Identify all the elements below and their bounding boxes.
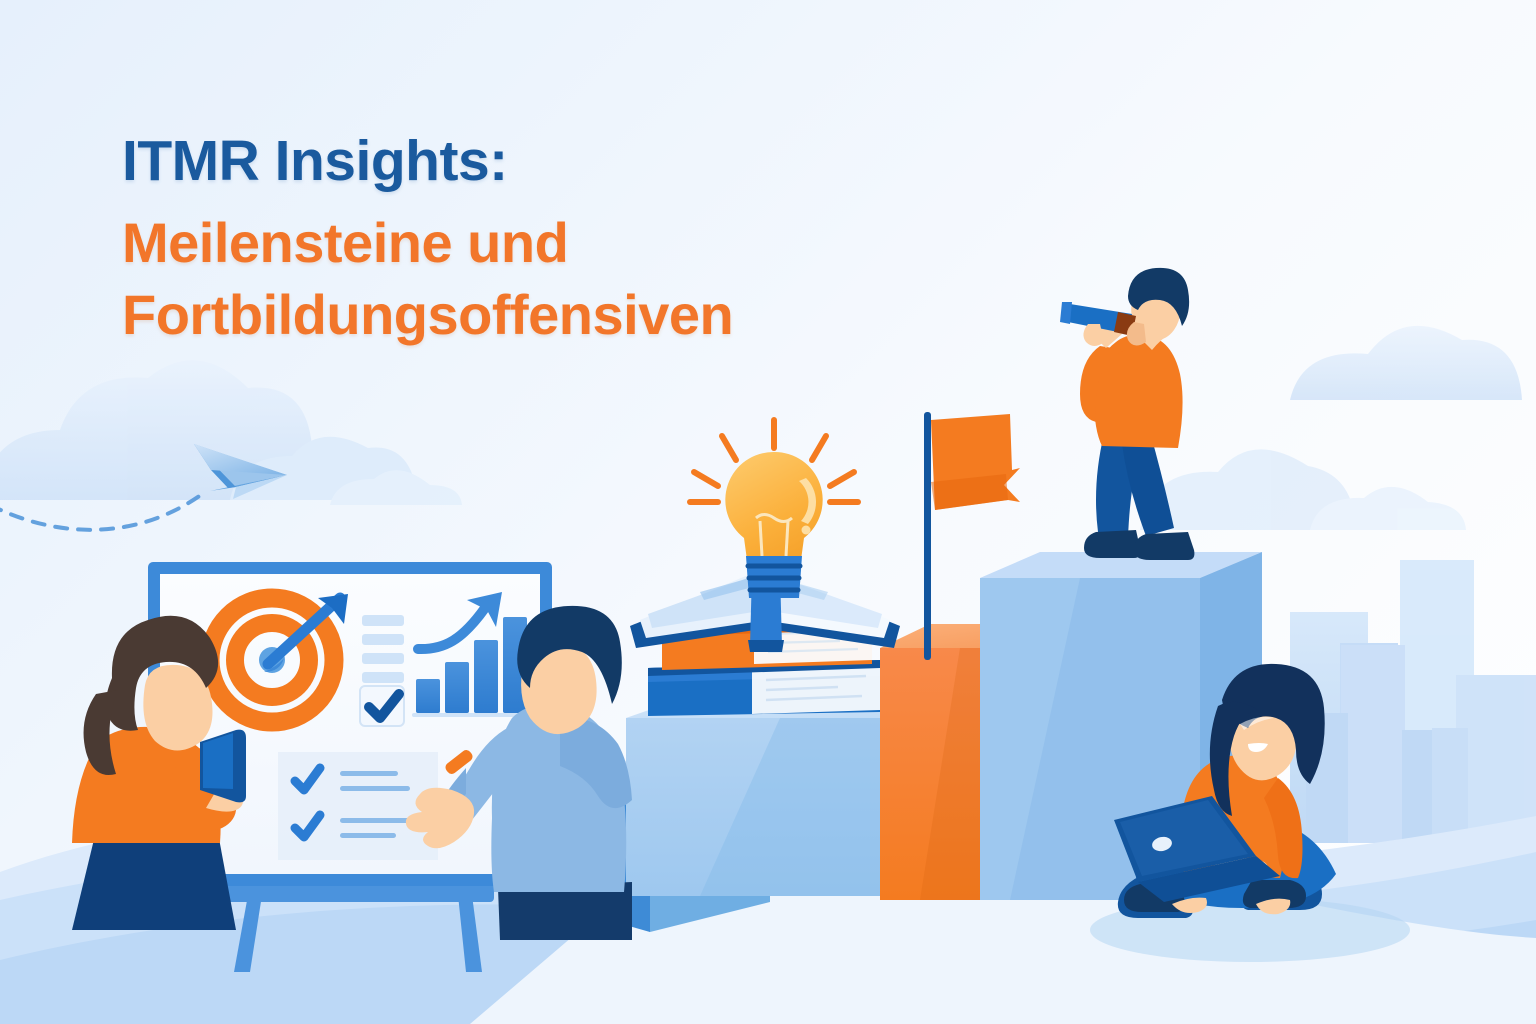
lightbulb-glass: [725, 452, 822, 560]
telescope-man-shoe-left: [1084, 530, 1140, 558]
scene-layer: [0, 0, 1536, 1024]
telescope-man-shoe-right: [1134, 532, 1194, 560]
easel-leg-right: [458, 895, 482, 972]
easel-leg-left: [234, 895, 262, 972]
man-with-telescope-on-pedestal: [1060, 268, 1194, 560]
easel-tray: [208, 884, 494, 902]
lightbulb-idea-icon: [690, 420, 858, 598]
lightbulb-base: [746, 556, 802, 598]
flag-pole: [924, 412, 931, 660]
board-checkbox[interactable]: [360, 686, 404, 726]
board-checklist-panel: [278, 752, 438, 860]
illustration-canvas: ITMR Insights: Meilensteine und Fortbild…: [0, 0, 1536, 1024]
